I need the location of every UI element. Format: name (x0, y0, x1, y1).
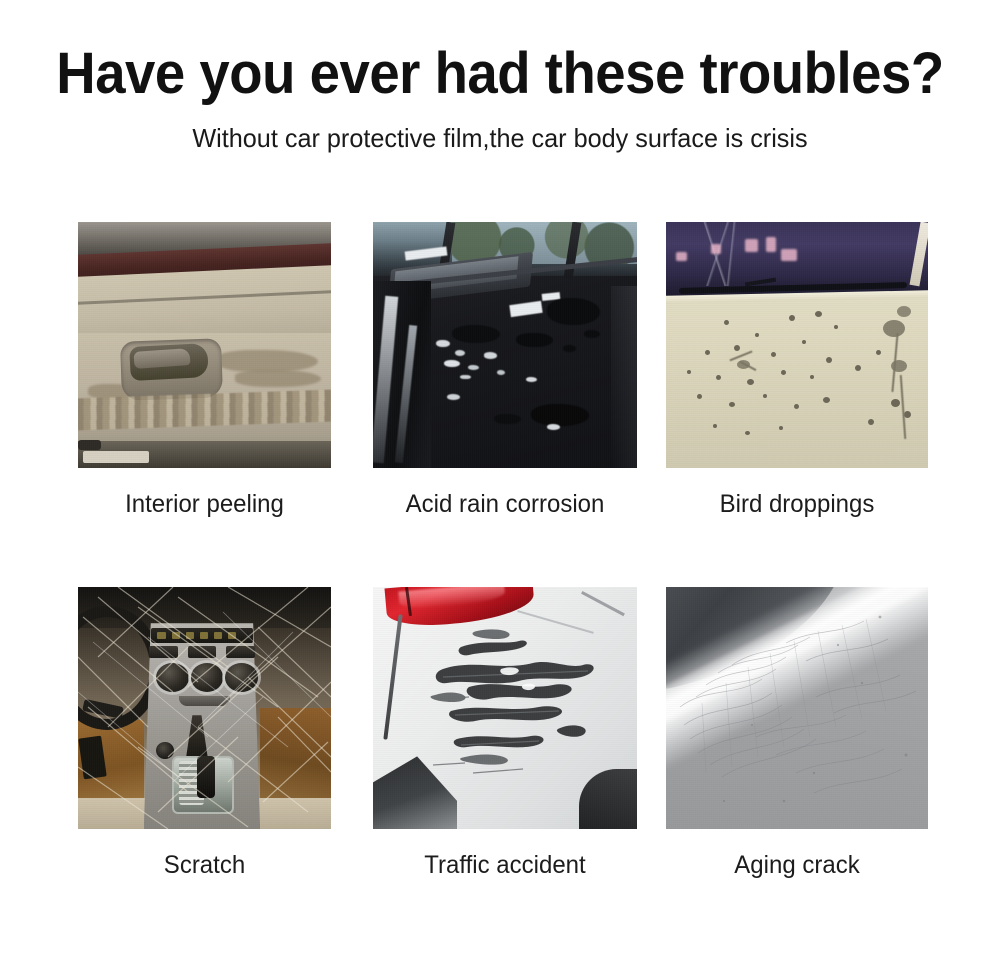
header: Have you ever had these troubles? Withou… (0, 0, 1000, 154)
gallery-item-caption: Traffic accident (378, 851, 631, 880)
promo-page: Have you ever had these troubles? Withou… (0, 0, 1000, 958)
page-subtitle: Without car protective film,the car body… (15, 123, 985, 154)
cream-car-hood-bird-droppings-photo (666, 222, 928, 468)
gallery-item-interior-peeling[interactable]: Interior peeling (78, 222, 331, 519)
gallery-item-caption: Bird droppings (671, 490, 923, 519)
car-center-console-scratched-photo (78, 587, 331, 829)
gallery-item-aging-crack[interactable]: Aging crack (666, 587, 928, 880)
gallery-item-caption: Acid rain corrosion (378, 490, 631, 519)
page-title: Have you ever had these troubles? (30, 44, 970, 105)
white-car-rear-panel-scrape-damage-photo (373, 587, 637, 829)
car-door-interior-panel-peeling-photo (78, 222, 331, 468)
gallery-item-traffic-accident[interactable]: Traffic accident (373, 587, 637, 880)
grey-car-paint-aging-crack-photo (666, 587, 928, 829)
trouble-gallery: Interior peeling (78, 222, 928, 880)
gallery-item-caption: Aging crack (671, 851, 923, 880)
gallery-row: Scratch (78, 587, 928, 880)
gallery-item-caption: Interior peeling (83, 490, 326, 519)
gallery-item-caption: Scratch (83, 851, 326, 880)
gallery-item-scratch[interactable]: Scratch (78, 587, 331, 880)
gallery-item-bird-droppings[interactable]: Bird droppings (666, 222, 928, 519)
black-car-roof-acid-rain-corrosion-photo (373, 222, 637, 468)
gallery-row: Interior peeling (78, 222, 928, 519)
gallery-item-acid-rain-corrosion[interactable]: Acid rain corrosion (373, 222, 637, 519)
